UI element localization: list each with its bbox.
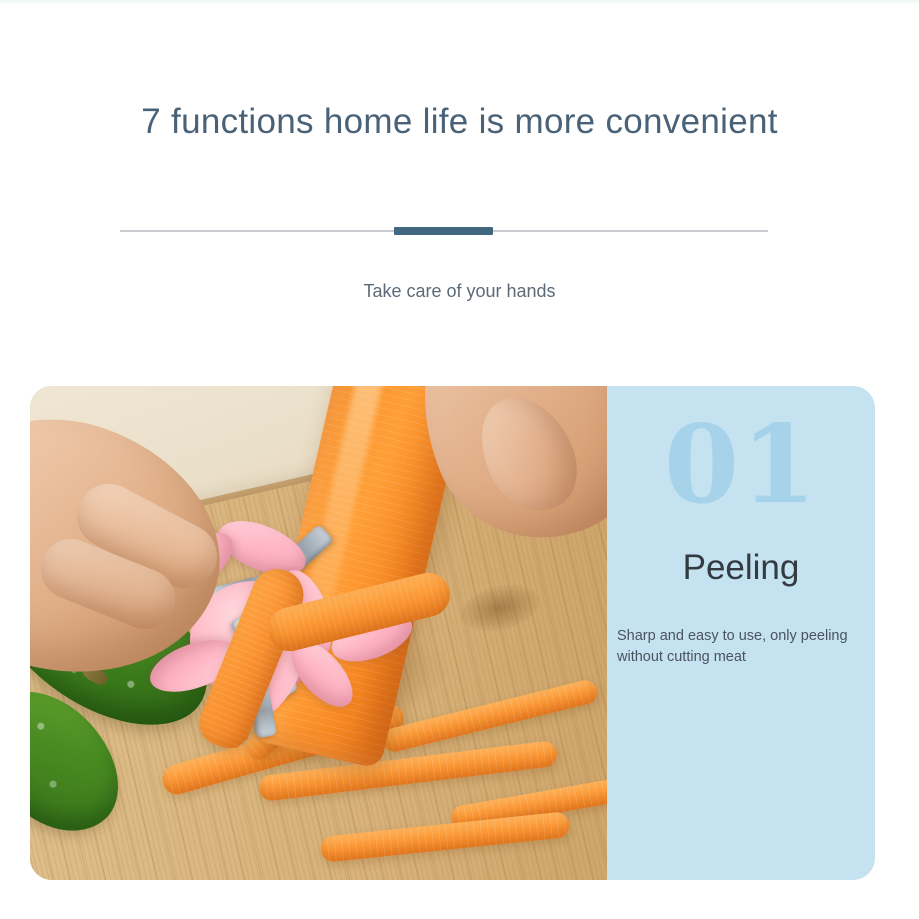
step-info-panel: 01 Peeling Sharp and easy to use, only p…	[607, 386, 875, 880]
divider	[120, 225, 768, 237]
page-title: 7 functions home life is more convenient	[0, 97, 919, 147]
header-section: 7 functions home life is more convenient…	[0, 0, 919, 380]
step-description: Sharp and easy to use, only peeling with…	[617, 626, 853, 668]
feature-card: 01 Peeling Sharp and easy to use, only p…	[30, 386, 875, 880]
page-subtitle: Take care of your hands	[0, 281, 919, 302]
step-title: Peeling	[607, 546, 875, 590]
divider-accent-bar	[394, 227, 493, 235]
step-number: 01	[607, 404, 875, 526]
product-photo	[30, 386, 607, 880]
